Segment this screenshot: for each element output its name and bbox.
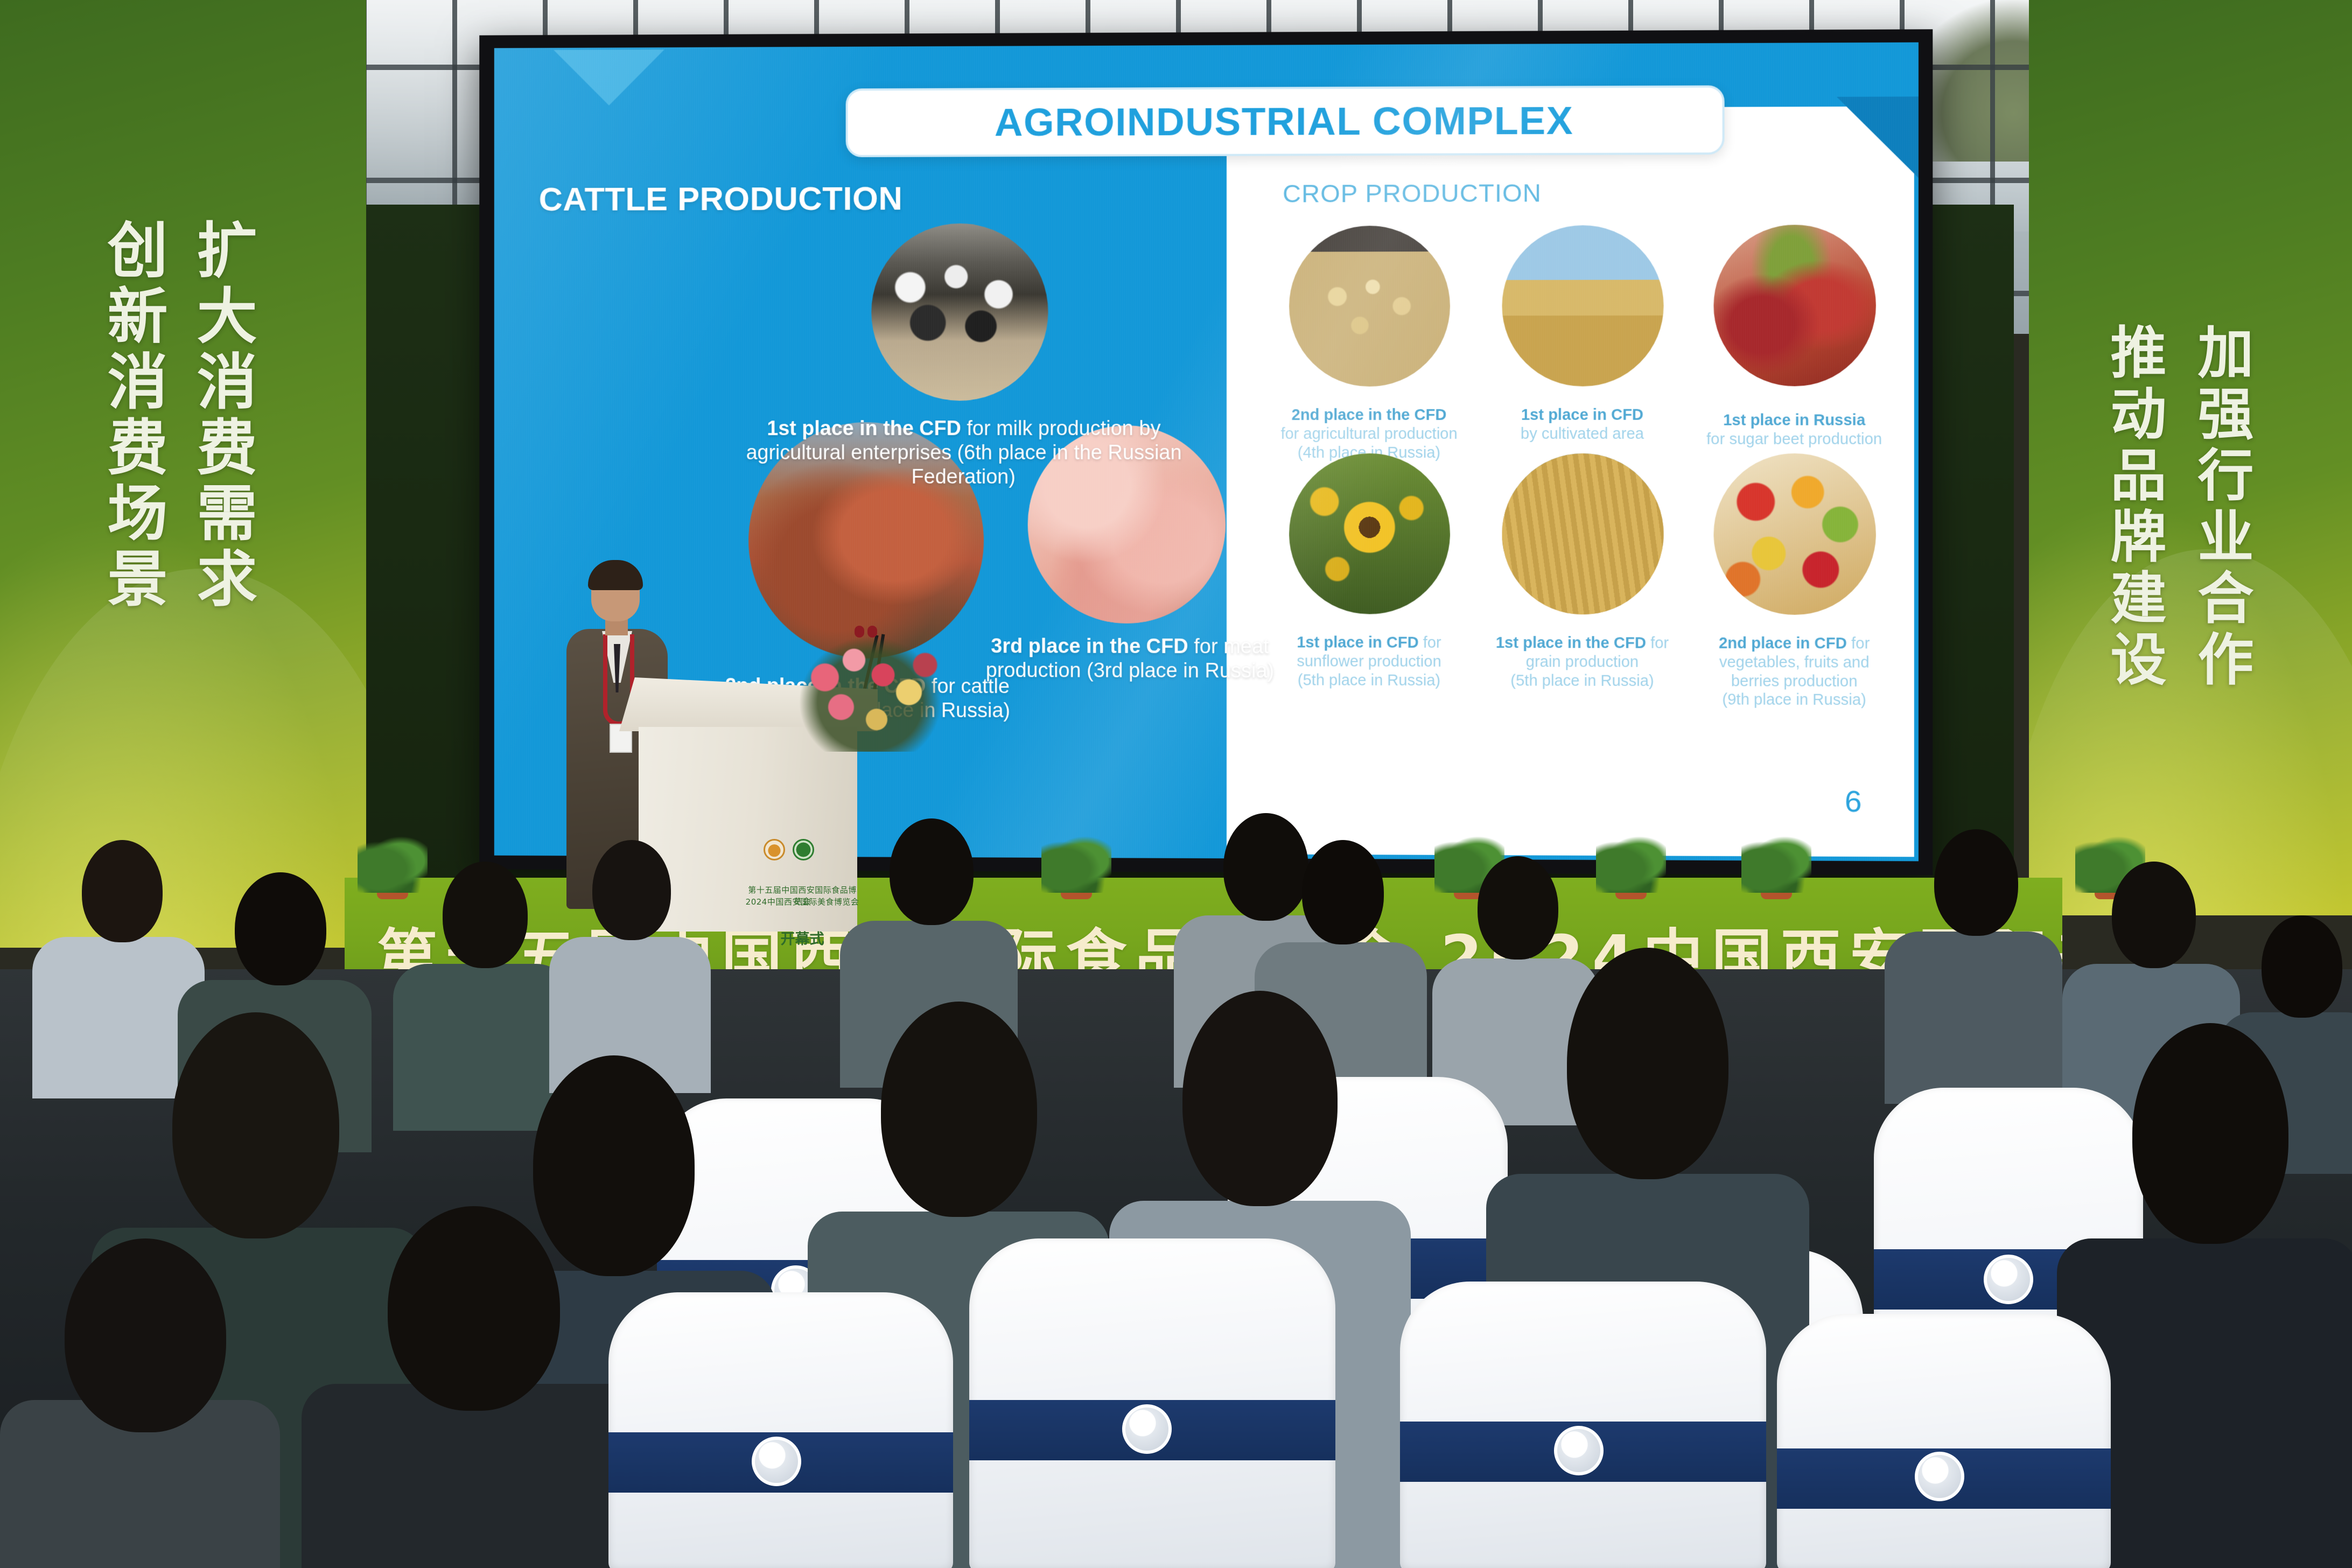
crop-caption-5-tail: for bbox=[1646, 634, 1669, 652]
crop-caption-sugar-beet: 1st place in Russia for sugar beet produ… bbox=[1688, 411, 1901, 449]
fruits-and-vegetables-photo bbox=[1713, 453, 1875, 615]
crop-caption-1-bold: 2nd place in the CFD bbox=[1292, 407, 1447, 424]
slide-title: AGROINDUSTRIAL COMPLEX bbox=[995, 98, 1573, 145]
chair-knot bbox=[1915, 1452, 1964, 1501]
chair-knot bbox=[1122, 1404, 1172, 1454]
crop-caption-sunflower: 1st place in CFD for sunflower productio… bbox=[1263, 633, 1475, 690]
wheat-emblem-icon bbox=[764, 839, 785, 860]
wheat-ears-photo bbox=[1502, 453, 1663, 614]
corner-triangle-decoration-icon bbox=[1837, 96, 1919, 178]
flower-bouquet bbox=[789, 628, 951, 752]
crop-caption-5-line3: (5th place in Russia) bbox=[1510, 672, 1654, 690]
crop-caption-vegetables-fruits-berries: 2nd place in CFD for vegetables, fruits … bbox=[1688, 634, 1901, 710]
cattle-caption-milk: 1st place in the CFD for milk production… bbox=[723, 417, 1205, 489]
banquet-chair bbox=[969, 1238, 1335, 1568]
soybeans-in-barrel-photo bbox=[1289, 226, 1450, 387]
crop-caption-4-bold: 1st place in CFD bbox=[1297, 634, 1418, 651]
crop-items-grid: 2nd place in the CFD for agricultural pr… bbox=[1227, 106, 1914, 857]
crop-caption-6-bold: 2nd place in CFD bbox=[1719, 635, 1847, 653]
potted-plant bbox=[1041, 834, 1111, 893]
left-banner-slogan-2: 扩大消费需求 bbox=[190, 219, 253, 613]
crop-caption-4-line3: (5th place in Russia) bbox=[1298, 671, 1440, 689]
audience-person-foreground bbox=[0, 1238, 280, 1568]
chevron-decoration-icon bbox=[554, 50, 664, 106]
crop-caption-6-line2: vegetables, fruits and bbox=[1719, 654, 1870, 671]
audience-person-foreground bbox=[302, 1206, 646, 1568]
crop-caption-4-line2: sunflower production bbox=[1297, 653, 1441, 670]
chair-knot bbox=[1984, 1255, 2033, 1304]
crop-caption-4-tail: for bbox=[1419, 634, 1441, 652]
crop-production-panel: CROP PRODUCTION 2nd place in the CFD for… bbox=[1227, 106, 1914, 857]
audience-person bbox=[549, 840, 711, 1077]
cultivated-field-photo bbox=[1502, 225, 1663, 387]
slide-page-number: 6 bbox=[1845, 783, 1862, 819]
right-green-banner: 推动品牌建设 加强行业合作 bbox=[2029, 0, 2352, 915]
cattle-caption-meat-bold: 3rd place in the CFD bbox=[991, 635, 1188, 658]
left-green-banner: 创新消费场景 扩大消费需求 bbox=[0, 0, 366, 948]
crop-caption-5-line2: grain production bbox=[1526, 653, 1639, 671]
cattle-caption-meat: 3rd place in the CFD for meat production… bbox=[974, 634, 1286, 683]
crop-caption-6-tail: for bbox=[1847, 635, 1870, 652]
sugar-beet-photo bbox=[1713, 225, 1875, 386]
crop-caption-2-bold: 1st place in CFD bbox=[1521, 407, 1643, 424]
right-banner-slogan-2: 加强行业合作 bbox=[2191, 323, 2250, 691]
banquet-chair bbox=[1777, 1314, 2111, 1568]
audience-person bbox=[1885, 829, 2062, 1088]
crop-caption-3-bold: 1st place in Russia bbox=[1723, 412, 1865, 429]
potted-plant bbox=[1741, 834, 1811, 893]
crop-caption-6-line4: (9th place in Russia) bbox=[1722, 691, 1866, 709]
chair-knot bbox=[752, 1437, 801, 1486]
cattle-production-heading: CATTLE PRODUCTION bbox=[539, 180, 903, 219]
crop-caption-6-line3: berries production bbox=[1731, 673, 1858, 690]
cattle-caption-milk-bold: 1st place in the CFD bbox=[767, 417, 961, 440]
podium-logos bbox=[764, 839, 814, 860]
crop-caption-5-bold: 1st place in the CFD bbox=[1496, 634, 1646, 652]
crop-caption-2-line2: by cultivated area bbox=[1521, 425, 1644, 443]
green-circle-emblem-icon bbox=[793, 839, 814, 860]
left-banner-slogan-1: 创新消费场景 bbox=[100, 219, 164, 613]
crop-caption-cultivated-area: 1st place in CFD by cultivated area bbox=[1476, 406, 1689, 444]
banquet-chair bbox=[1400, 1282, 1766, 1568]
dairy-herd-photo bbox=[871, 223, 1048, 401]
chair-knot bbox=[1554, 1426, 1604, 1475]
slide-title-pill: AGROINDUSTRIAL COMPLEX bbox=[846, 85, 1725, 157]
conference-hall-scene: 创新消费场景 扩大消费需求 推动品牌建设 加强行业合作 CATTLE PRODU… bbox=[0, 0, 2352, 1568]
sunflower-photo bbox=[1289, 453, 1450, 614]
banquet-chair bbox=[608, 1292, 953, 1568]
potted-plant bbox=[1596, 834, 1666, 893]
crop-caption-1-line2: for agricultural production bbox=[1280, 425, 1457, 443]
speaker-hair bbox=[588, 560, 643, 590]
crop-caption-3-line2: for sugar beet production bbox=[1706, 431, 1882, 448]
right-banner-slogan-1: 推动品牌建设 bbox=[2104, 323, 2162, 691]
crop-caption-grain: 1st place in the CFD for grain productio… bbox=[1476, 634, 1689, 691]
